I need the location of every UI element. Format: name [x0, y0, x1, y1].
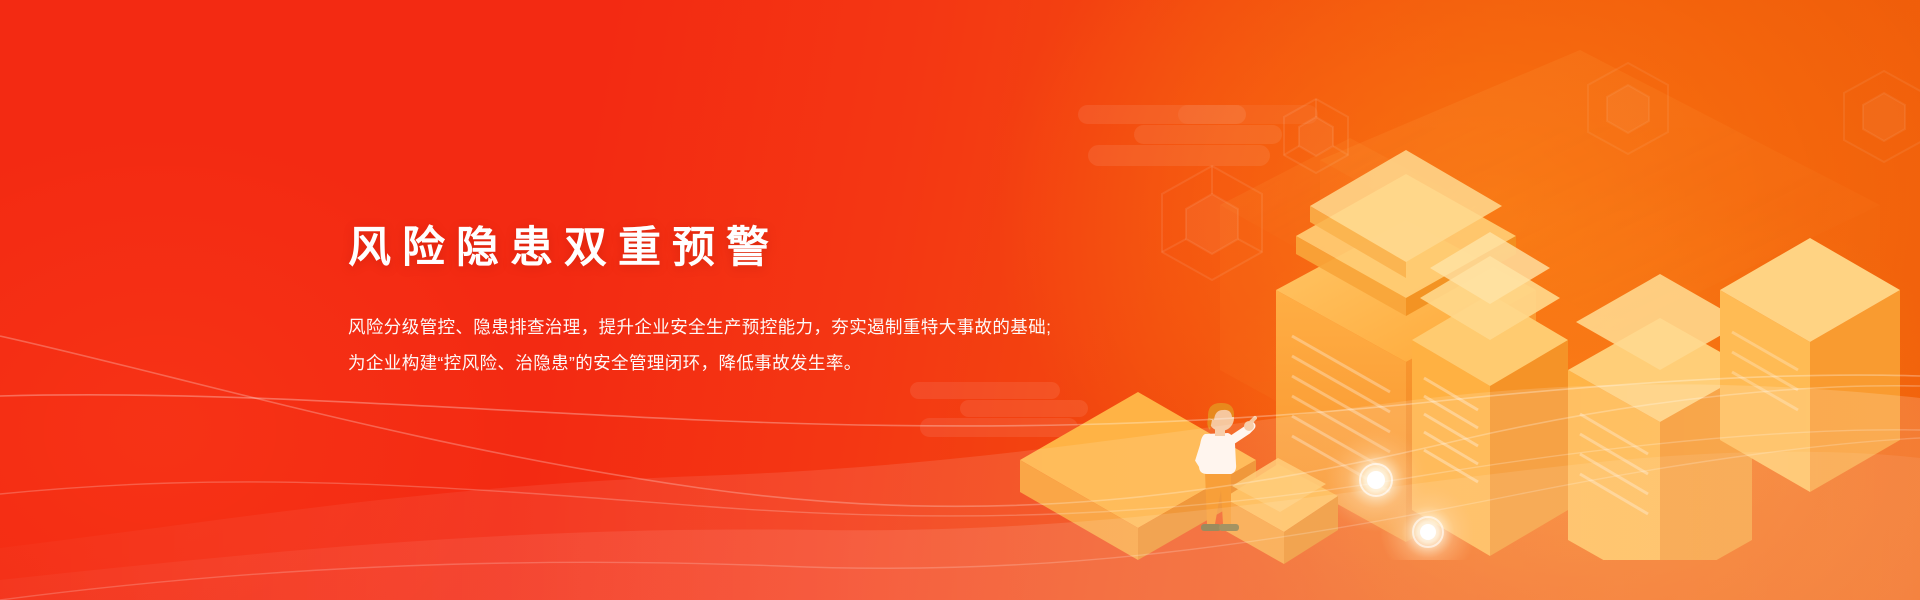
server-tower-right: [1568, 274, 1752, 560]
hexagon-cube-icon-large: [1152, 160, 1272, 290]
banner-subtitle-line-2: 为企业构建“控风险、治隐患”的安全管理闭环，降低事故发生率。: [348, 345, 1088, 381]
banner-copy: 风险隐患双重预警 风险分级管控、隐患排查治理，提升企业安全生产预控能力，夯实遏制…: [348, 222, 1088, 381]
hexagon-cube-icon-right: [1580, 58, 1676, 162]
isometric-server-illustration: [1020, 40, 1920, 560]
banner-subtitle: 风险分级管控、隐患排查治理，提升企业安全生产预控能力，夯实遏制重特大事故的基础;…: [348, 276, 1088, 381]
server-tower-far-right: [1720, 238, 1900, 492]
cloud-decoration-bottom: [898, 382, 1118, 438]
hero-banner: 风险隐患双重预警 风险分级管控、隐患排查治理，提升企业安全生产预控能力，夯实遏制…: [0, 0, 1920, 600]
person-pointing-illustration: [1185, 398, 1257, 548]
background-glow-secondary: [1180, 170, 1920, 600]
hexagon-cube-icon-edge: [1836, 66, 1920, 170]
isometric-box-foreground: [1180, 390, 1380, 570]
ghost-platform: [1320, 50, 1880, 430]
server-disc-stack: [1296, 150, 1516, 316]
light-dot-upper: [1324, 428, 1428, 532]
banner-subtitle-line-1: 风险分级管控、隐患排查治理，提升企业安全生产预控能力，夯实遏制重特大事故的基础;: [348, 309, 1088, 345]
foreground-block: [1020, 392, 1256, 560]
server-tower-middle: [1412, 232, 1568, 556]
banner-headline: 风险隐患双重预警: [348, 222, 1088, 276]
ghost-tower-left: [1220, 138, 1480, 442]
background-glow-primary: [1000, 0, 1920, 580]
server-tower-center: [1276, 150, 1536, 542]
light-dot-lower: [1380, 484, 1476, 560]
cloud-decoration-top: [1060, 105, 1320, 167]
hexagon-cube-icon-small: [1278, 95, 1354, 179]
